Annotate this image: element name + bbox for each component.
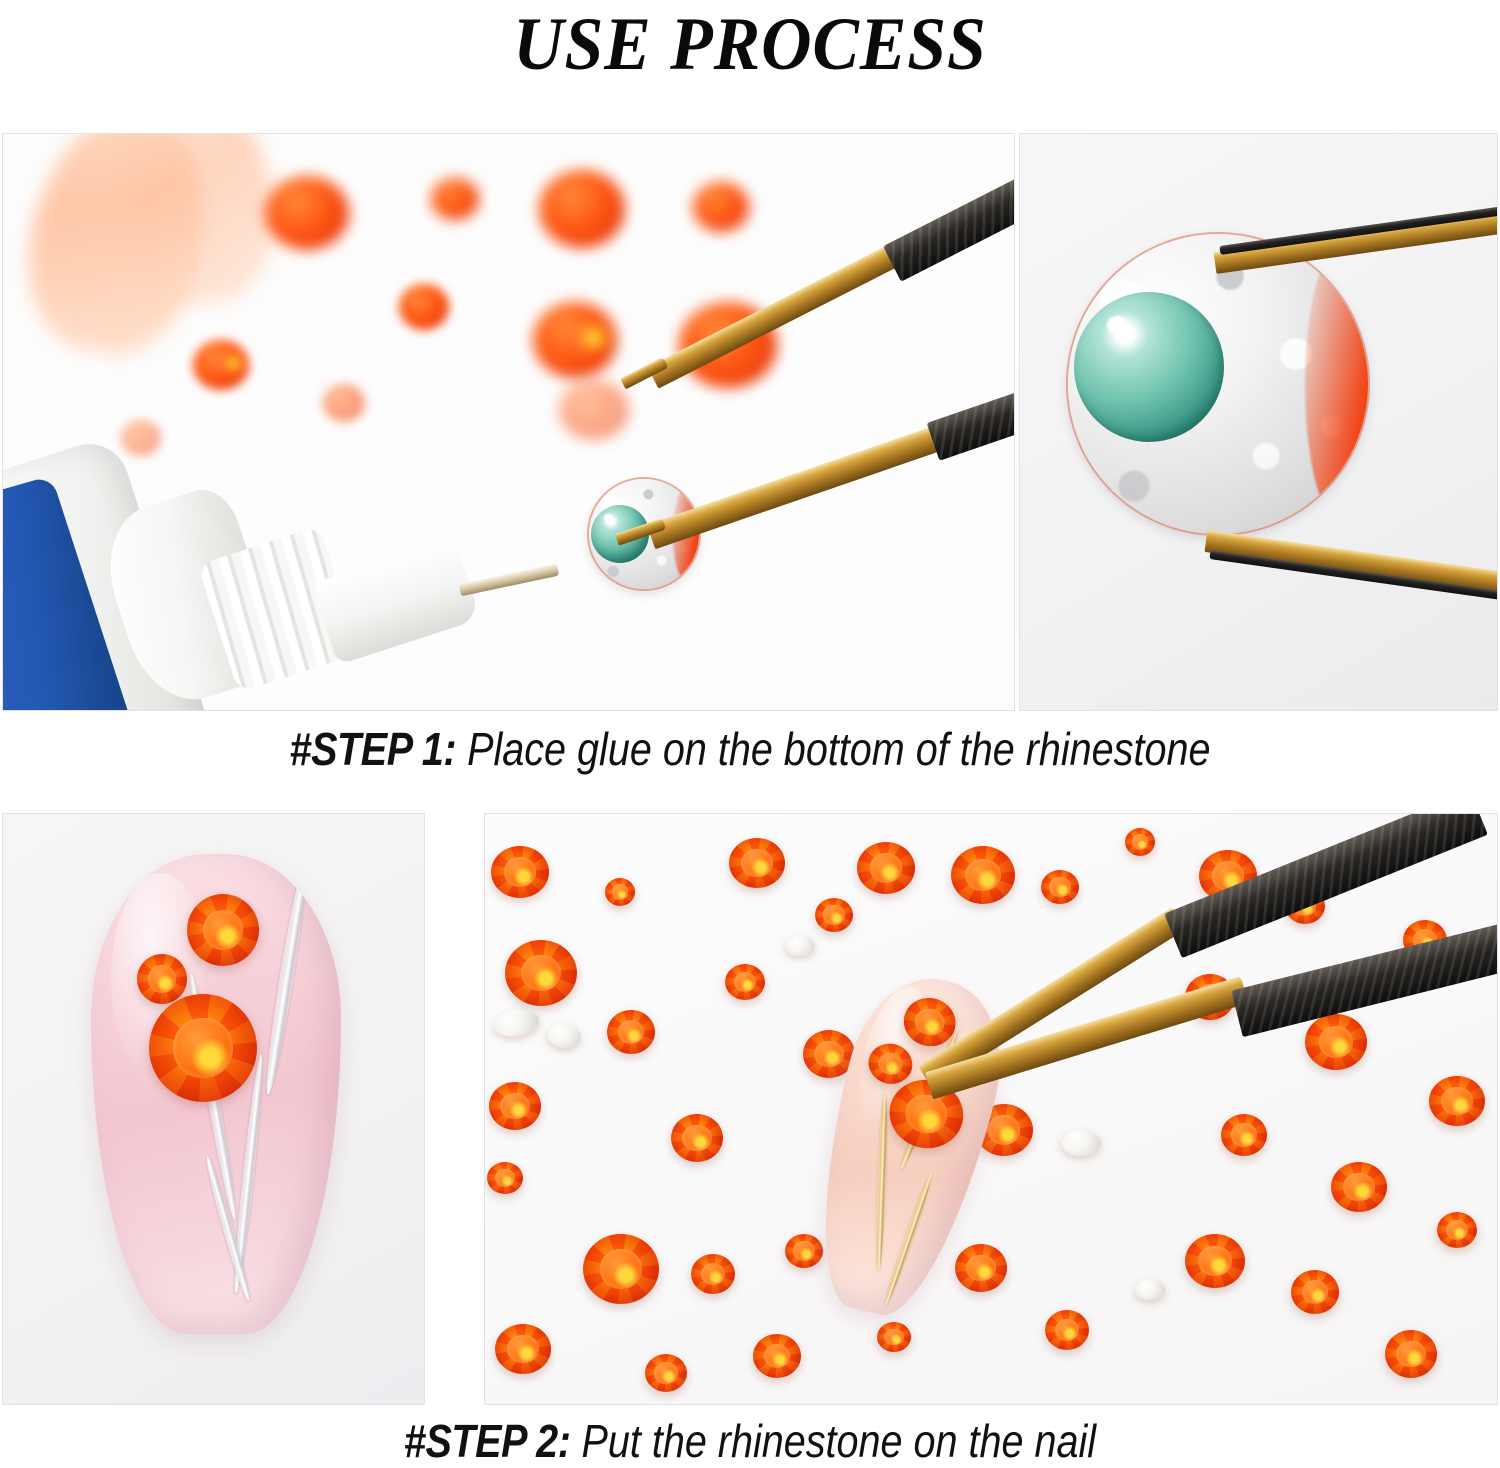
rhinestone [487,1162,523,1194]
rhinestone [725,964,765,1000]
blurred-rhinestone [539,170,625,248]
rhinestone [1331,1162,1387,1212]
step1-photo-right [1019,133,1498,711]
step2-text: Put the rhinestone on the nail [581,1415,1096,1467]
step1-label: #STEP 1: [290,723,457,775]
rhinestone [187,894,259,966]
rhinestone [857,842,915,894]
blurred-rhinestone [559,380,629,440]
rhinestone-edge [1305,246,1368,522]
rhinestone [489,1082,541,1130]
decorated-nail-tip [91,854,341,1334]
rhinestone [753,1334,801,1378]
rhinestone-flipped [1061,1130,1101,1156]
rhinestone [864,1039,916,1088]
rhinestone [785,1234,823,1268]
rhinestone [1305,1014,1367,1070]
blurred-rhinestone [693,182,749,232]
blurred-rhinestone [399,284,449,330]
step2-label: #STEP 2: [404,1415,571,1467]
rhinestone [605,878,635,906]
glue-drop [1074,292,1224,442]
nail-art-line [261,866,311,1095]
blurred-rhinestone [265,176,349,250]
rhinestone [137,954,187,1004]
rhinestone [1185,1234,1245,1288]
blurred-rhinestone [121,420,161,456]
step1-photo-left: R R [2,133,1015,711]
glue-bottle: R R [2,454,583,711]
rhinestone [955,1244,1007,1292]
rhinestone [149,994,257,1102]
bottle-nozzle [311,537,480,665]
rhinestone [729,838,785,888]
step2-photo-left [2,813,425,1405]
blurred-rhinestone [533,302,617,378]
rhinestone [951,846,1015,904]
rhinestone [491,846,549,898]
step2-caption: #STEP 2: Put the rhinestone on the nail [105,1414,1395,1468]
rhinestone [1221,1114,1267,1156]
rhinestone-flipped [1135,1280,1165,1300]
rhinestone [671,1114,723,1162]
rhinestone [1041,870,1079,904]
rhinestone [1125,828,1155,856]
rhinestone [877,1322,911,1352]
rhinestone [1429,1076,1485,1126]
step2-photo-right [484,813,1498,1405]
blurred-rhinestone [431,178,479,220]
rhinestone [583,1234,659,1304]
blurred-rhinestone [323,384,365,422]
rhinestone [495,1324,551,1374]
rhinestone [1385,1330,1437,1378]
rhinestone [691,1254,735,1294]
rhinestone [1045,1310,1089,1350]
rhinestone [815,898,853,932]
step1-caption: #STEP 1: Place glue on the bottom of the… [105,722,1395,776]
blurred-rhinestone [193,340,249,390]
rhinestone [607,1010,655,1054]
bottle-needle-applicator [459,564,559,597]
rhinestone [505,940,577,1006]
rhinestone [1437,1212,1477,1248]
rhinestone-back-macro [1068,234,1368,534]
rhinestone [645,1354,687,1392]
page-title: USE PROCESS [53,0,1448,90]
step1-text: Place glue on the bottom of the rhinesto… [467,723,1210,775]
rhinestone [1291,1270,1339,1314]
nail-art-line [875,1091,889,1271]
rhinestone-flipped [785,936,815,956]
